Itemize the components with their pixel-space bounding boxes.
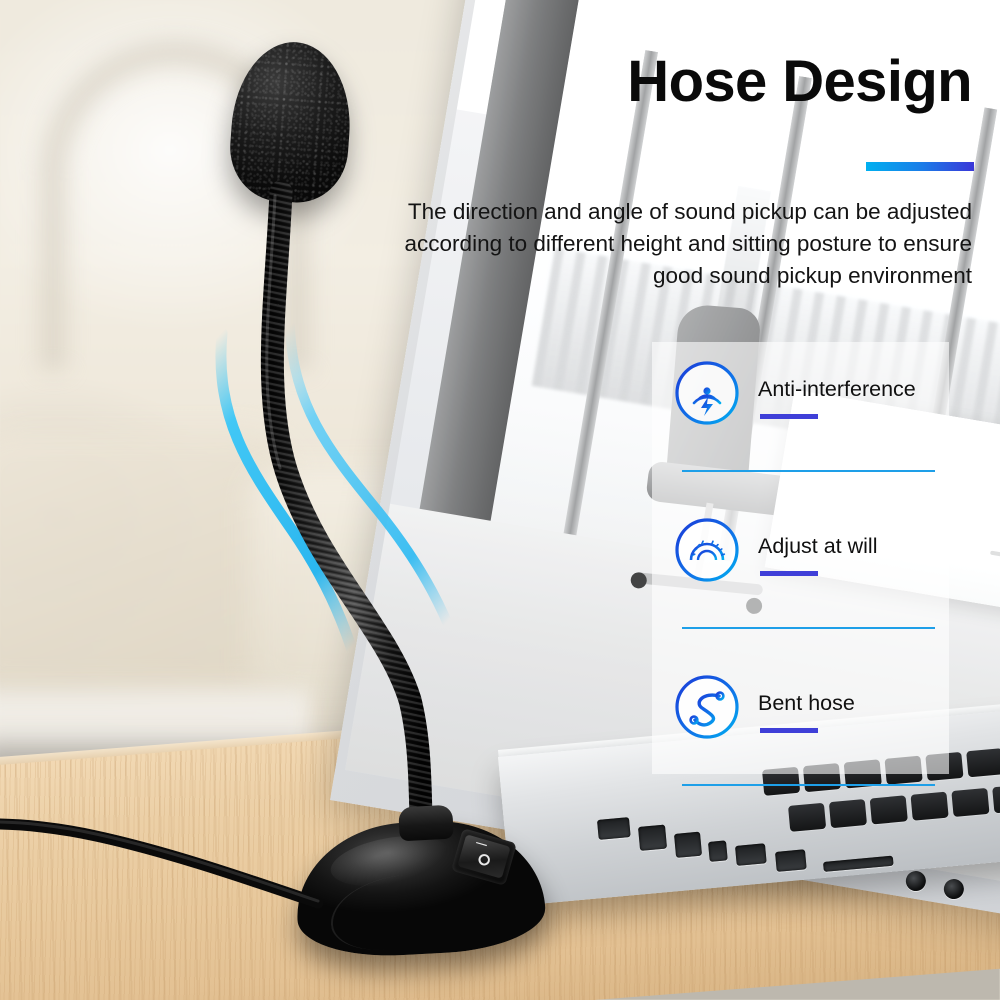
subtitle-line: good sound pickup environment bbox=[300, 260, 972, 292]
signal-shield-icon bbox=[674, 360, 740, 426]
subtitle-line: according to different height and sittin… bbox=[300, 228, 972, 260]
feature-label: Adjust at will bbox=[758, 534, 878, 559]
feature-underline-accent bbox=[760, 571, 818, 576]
feature-divider bbox=[682, 627, 935, 629]
feature-panel: Anti-interference bbox=[652, 342, 949, 774]
s-curve-node-icon bbox=[674, 674, 740, 740]
feature-underline-accent bbox=[760, 414, 818, 419]
subtitle-line: The direction and angle of sound pickup … bbox=[300, 196, 972, 228]
feature-item-anti-interference[interactable]: Anti-interference bbox=[652, 350, 949, 488]
feature-item-bent-hose[interactable]: Bent hose bbox=[652, 664, 949, 802]
protractor-icon bbox=[674, 517, 740, 583]
feature-label: Bent hose bbox=[758, 691, 855, 716]
subtitle-description: The direction and angle of sound pickup … bbox=[300, 196, 972, 292]
feature-item-adjust-at-will[interactable]: Adjust at will bbox=[652, 507, 949, 645]
product-marketing-image: ― ⭘ Hose Design The direction and angle … bbox=[0, 0, 1000, 1000]
feature-underline-accent bbox=[760, 728, 818, 733]
title-accent-bar bbox=[866, 162, 974, 171]
feature-label: Anti-interference bbox=[758, 377, 916, 402]
feature-divider bbox=[682, 784, 935, 786]
page-title: Hose Design bbox=[560, 52, 972, 113]
feature-divider bbox=[682, 470, 935, 472]
